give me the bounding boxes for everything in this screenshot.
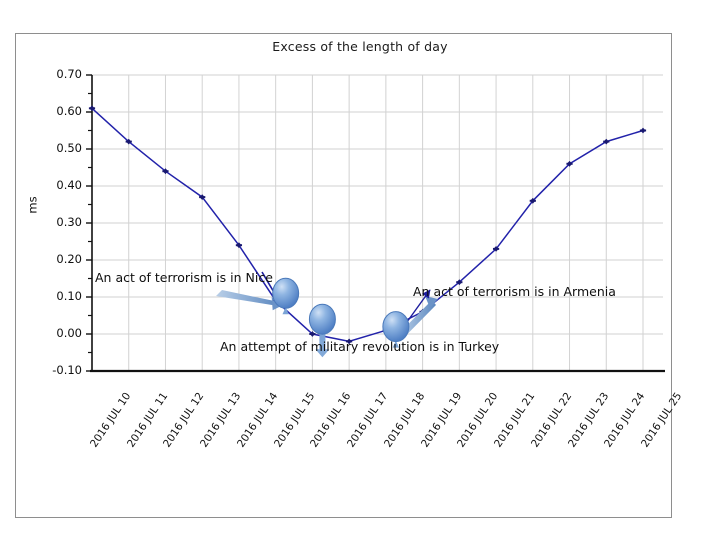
data-line xyxy=(92,108,643,341)
chart-screenshot: Excess of the length of day ms 0.700.600… xyxy=(0,0,720,540)
annotation-markers xyxy=(273,278,409,347)
annotation-nice: An act of terrorism is in Nice xyxy=(95,270,273,285)
gridlines xyxy=(92,75,663,371)
data-markers xyxy=(89,105,646,344)
annotation-turkey: An attempt of military revolution is in … xyxy=(220,339,499,354)
annotation-armenia: An act of terrorism is in Armenia xyxy=(413,284,616,299)
